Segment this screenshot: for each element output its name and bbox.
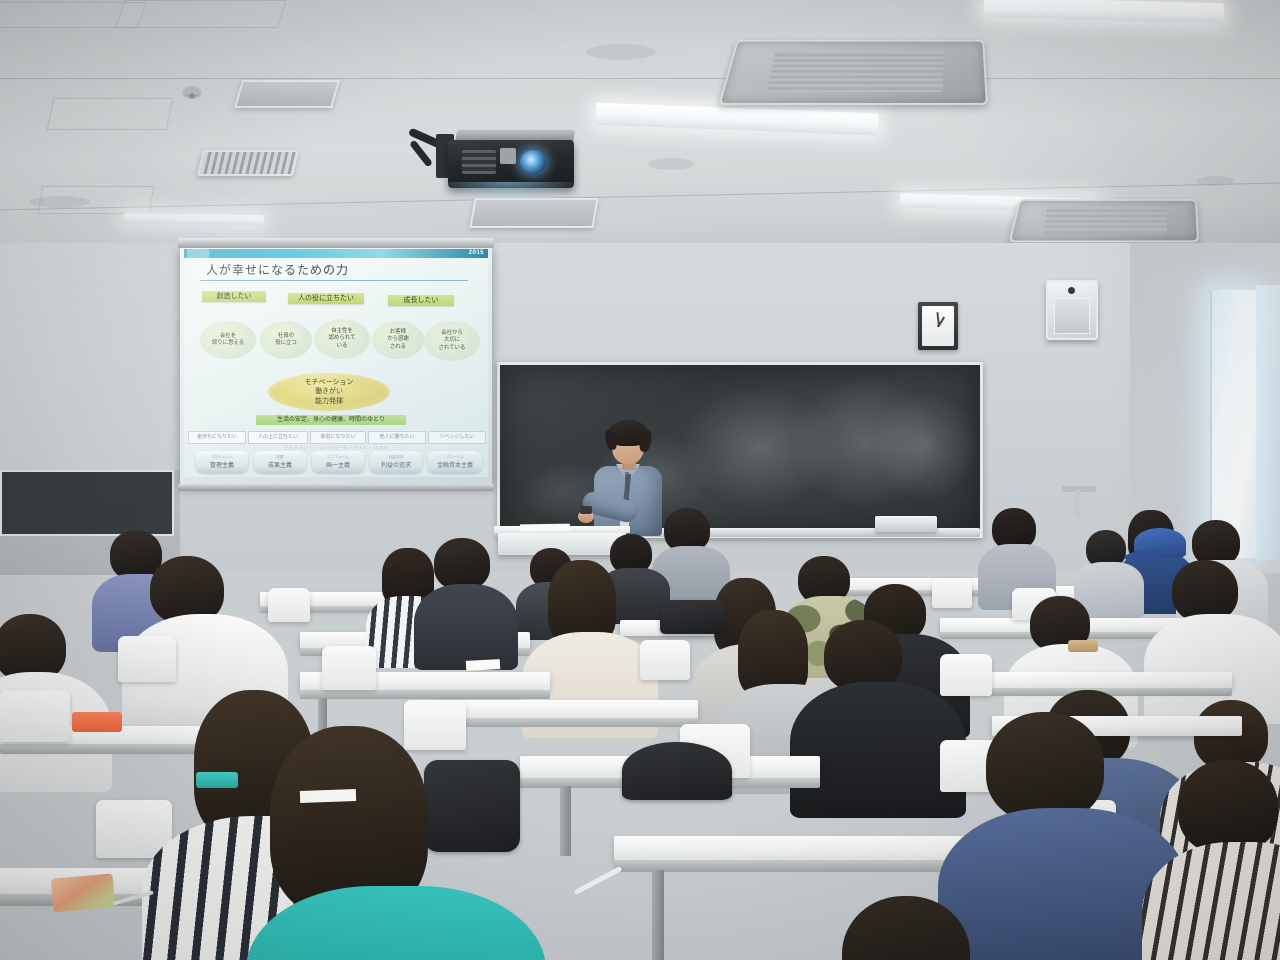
chair-back (940, 654, 992, 696)
notebook (466, 659, 500, 671)
wall-bracket-arm (1074, 490, 1080, 516)
ceiling-vent (234, 80, 340, 108)
slide-cylinder-4-sub: 利益追求 (370, 455, 422, 460)
lecture-hall-photo: 2015 人が幸せになるための力 創造したい 人の役に立ちたい 成長したい 会社… (0, 0, 1280, 960)
speaker-grill (1054, 298, 1090, 334)
teal-pouch (196, 772, 238, 788)
window-frame (1256, 285, 1280, 560)
podium-papers (520, 524, 570, 532)
slide-cylinder-1: マネジメント 管理主義 (196, 451, 248, 473)
orange-pouch (72, 712, 122, 732)
ceiling-air-diffuser (197, 150, 299, 176)
ceiling-light-4 (124, 213, 264, 225)
pen-2 (574, 866, 622, 895)
desk-leg (652, 870, 664, 960)
slide-desire-box-3: 有名になりたい (310, 431, 366, 444)
slide-center-ellipse: モチベーション 働きがい 能力発揮 (268, 373, 390, 411)
chair-back (322, 646, 376, 690)
eraser-box (875, 516, 937, 532)
slide-title: 人が幸せになるための力 (206, 261, 349, 278)
slide-center-line-1: モチベーション (305, 378, 354, 387)
backpack-hanging (424, 760, 520, 852)
slide-cylinder-2: 成果 成果主義 (254, 451, 306, 473)
slide-title-rule (200, 280, 468, 281)
ceiling-projector (404, 128, 574, 190)
desk-edge (0, 744, 200, 754)
slide-content: 2015 人が幸せになるための力 創造したい 人の役に立ちたい 成長したい 会社… (184, 249, 488, 477)
desk-leg (560, 786, 571, 856)
slide-ellipse-2-text: 社員の 役に立つ (275, 333, 297, 348)
desk-edge (300, 690, 550, 699)
slide-ellipse-3-text: 自主性を 認められて いる (329, 328, 356, 350)
projector-panel (500, 148, 516, 164)
snack-package (51, 873, 116, 912)
presenter-remote (580, 506, 592, 514)
blackboard-left-section (0, 470, 174, 536)
ceiling-light-1 (596, 103, 878, 136)
slide-cylinder-2-label: 成果主義 (254, 462, 306, 470)
slide-ellipse-4: お客様 から感謝 される (372, 321, 424, 359)
slide-ellipse-3: 自主性を 認められて いる (314, 319, 370, 359)
slide-cylinder-4: 利益追求 利益の追求 (370, 451, 422, 473)
projection-screen-bottom-bar (178, 484, 494, 491)
handout (300, 789, 356, 803)
slide-cylinder-1-label: 管理主義 (196, 462, 248, 470)
slide-green-strip: 生活の安定、身心の健康、時間のゆとり (256, 415, 406, 425)
chair-back (640, 640, 690, 680)
chair-back (932, 578, 972, 608)
desk-edge (438, 718, 698, 727)
speaker-indicator (1068, 287, 1075, 294)
slide-ellipse-4-text: お客様 から感謝 される (387, 329, 409, 351)
slide-cylinder-3: ユニフォーム 画一主義 (312, 451, 364, 473)
slide-ellipse-2: 社員の 役に立つ (260, 321, 312, 359)
slide-top-box-2: 人の役に立ちたい (288, 293, 364, 304)
slide-cylinder-3-label: 画一主義 (312, 462, 364, 470)
blackboard (497, 362, 983, 538)
slide-cylinder-4-label: 利益の追求 (370, 462, 422, 470)
slide-cylinder-5-label: 金融資本主義 (428, 462, 482, 470)
slide-top-box-3: 成長したい (388, 295, 454, 306)
projection-screen: 2015 人が幸せになるための力 創造したい 人の役に立ちたい 成長したい 会社… (180, 246, 492, 486)
slide-desire-box-1: 金持ちになりたい (188, 431, 246, 444)
backpack-on-chair (622, 742, 732, 800)
slide-ellipse-1: 会社を 誇りに思える (200, 321, 256, 359)
pencil-case (1068, 640, 1098, 652)
chair-back (268, 588, 310, 622)
slide-center-line-2: 働きがい (315, 387, 343, 396)
slide-cylinder-5: グローバル 金融資本主義 (428, 451, 482, 473)
student-head (434, 538, 490, 590)
slide-cylinder-3-sub: ユニフォーム (312, 455, 364, 460)
slide-center-line-3: 能力発揮 (315, 397, 343, 406)
wall-speaker (1046, 280, 1098, 340)
window (1210, 290, 1256, 558)
slide-cylinder-2-sub: 成果 (254, 455, 306, 460)
student-torso (414, 584, 518, 670)
slide-desire-box-5: リベンジしたい (428, 431, 486, 444)
backpack-on-desk (660, 600, 724, 634)
slide-header-band (184, 249, 488, 258)
ceiling (0, 0, 1280, 245)
ceiling-ac-cassette (718, 40, 988, 105)
slide-top-box-1: 創造したい (202, 291, 266, 302)
slide-logo (187, 249, 209, 258)
student-head (1178, 760, 1278, 854)
ceiling-light-2 (984, 0, 1224, 23)
slide-desire-box-2: 人の上に立ちたい (248, 431, 308, 444)
slide-cylinder-1-sub: マネジメント (196, 455, 248, 460)
slide-year-badge: 2015 (469, 249, 484, 258)
student-head (986, 712, 1104, 822)
sprinkler-head (184, 86, 200, 95)
lecturer (578, 418, 674, 538)
chair-back (118, 636, 176, 682)
desk-edge (614, 860, 984, 872)
ceiling-ac-cassette-2 (1008, 199, 1199, 242)
clock-face (922, 306, 954, 346)
slide-ellipse-5-text: 会社から 大切に されている (439, 330, 466, 352)
slide-ellipse-1-text: 会社を 誇りに思える (212, 333, 244, 348)
desk-row-c-mid (438, 700, 698, 720)
ceiling-vent-2 (469, 198, 598, 228)
wall-clock (918, 302, 958, 350)
slide-faint-caption: マネジメント・コントロール・モデル・コスト (214, 445, 458, 450)
projector-lens (520, 150, 546, 174)
chair-back (0, 690, 70, 742)
slide-ellipse-5: 会社から 大切に されている (424, 321, 480, 361)
slide-desire-box-4: 他人に勝ちたい (368, 431, 426, 444)
projector-buttons (462, 150, 496, 174)
student-head (1172, 560, 1238, 622)
projection-screen-housing (178, 238, 494, 248)
slide-cylinder-5-sub: グローバル (428, 455, 482, 460)
chair-back (404, 700, 466, 750)
